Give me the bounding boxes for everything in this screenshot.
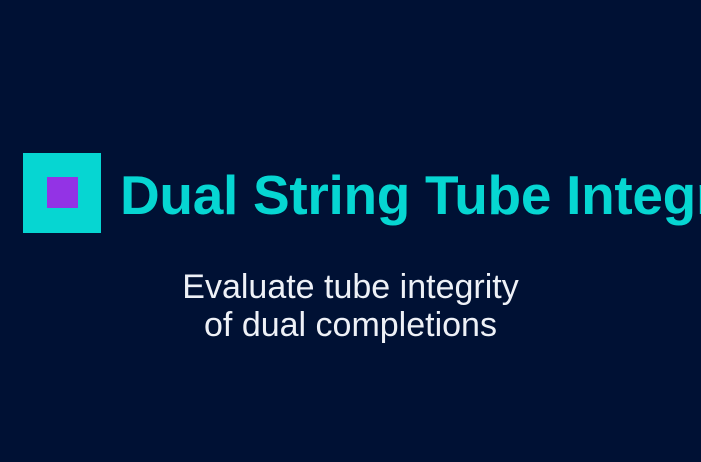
page-title: Dual String Tube Integrity	[120, 168, 701, 223]
subtitle-line-1: Evaluate tube integrity	[0, 268, 701, 306]
title-row: Dual String Tube Integrity	[23, 153, 701, 233]
subtitle-line-2: of dual completions	[0, 306, 701, 344]
square-logo-inner-icon	[47, 177, 78, 208]
title-slide: Dual String Tube Integrity Evaluate tube…	[0, 0, 701, 462]
square-logo-icon	[23, 153, 101, 233]
subtitle: Evaluate tube integrity of dual completi…	[0, 268, 701, 344]
